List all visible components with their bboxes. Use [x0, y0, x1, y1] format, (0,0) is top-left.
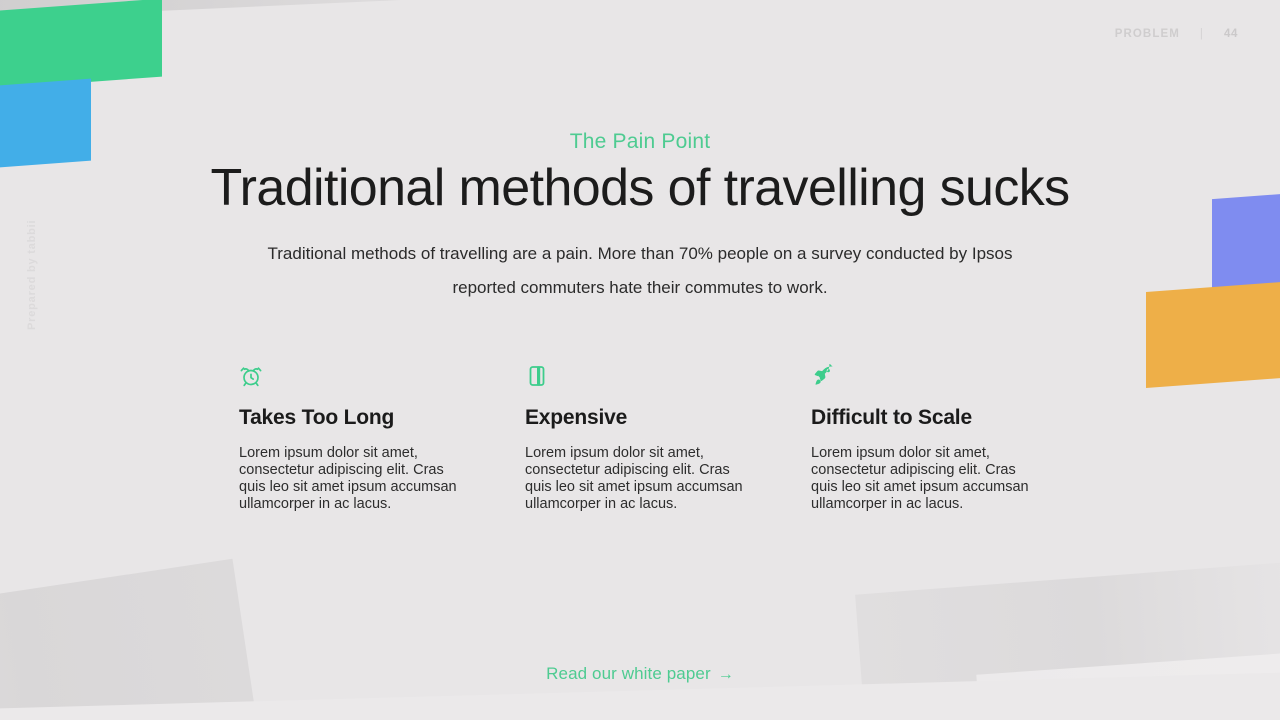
feature-column: Difficult to Scale Lorem ipsum dolor sit… [811, 364, 1097, 513]
alarm-clock-icon [239, 364, 525, 396]
section-label: PROBLEM [1115, 28, 1180, 40]
feature-body: Lorem ipsum dolor sit amet, consectetur … [239, 445, 471, 513]
rocket-icon [811, 364, 1097, 396]
page-subtitle: Traditional methods of travelling are a … [240, 237, 1040, 305]
arrow-right-icon: → [718, 666, 734, 683]
eyebrow-label: The Pain Point [0, 130, 1280, 154]
header-separator: | [1200, 28, 1204, 40]
feature-title: Difficult to Scale [811, 406, 1097, 430]
page-title: Traditional methods of travelling sucks [0, 157, 1280, 219]
slide-content: PROBLEM | 44 Prepared by tabbii The Pain… [0, 0, 1280, 720]
cta-label: Read our white paper [546, 664, 711, 683]
feature-body: Lorem ipsum dolor sit amet, consectetur … [811, 445, 1043, 513]
prepared-by-label: Prepared by tabbii [26, 220, 38, 330]
feature-columns: Takes Too Long Lorem ipsum dolor sit ame… [239, 364, 1119, 513]
slide-header-meta: PROBLEM | 44 [1115, 28, 1238, 40]
feature-column: Expensive Lorem ipsum dolor sit amet, co… [525, 364, 811, 513]
money-card-icon [525, 364, 811, 396]
feature-column: Takes Too Long Lorem ipsum dolor sit ame… [239, 364, 525, 513]
read-white-paper-link[interactable]: Read our white paper→ [0, 664, 1280, 684]
feature-title: Takes Too Long [239, 406, 525, 430]
page-number: 44 [1224, 28, 1238, 40]
feature-title: Expensive [525, 406, 811, 430]
feature-body: Lorem ipsum dolor sit amet, consectetur … [525, 445, 757, 513]
slide-root: PROBLEM | 44 Prepared by tabbii The Pain… [0, 0, 1280, 720]
